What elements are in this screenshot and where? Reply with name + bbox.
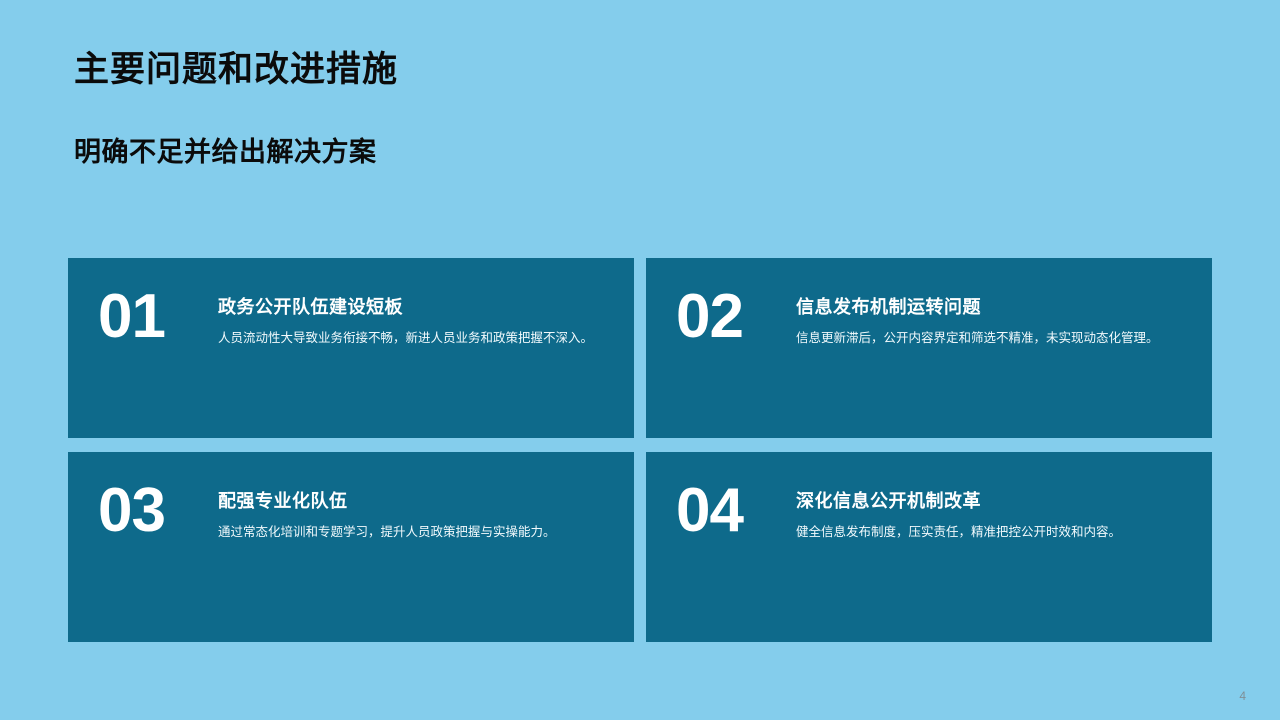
page-subtitle: 明确不足并给出解决方案 (74, 90, 974, 168)
title-block: 主要问题和改进措施 明确不足并给出解决方案 (74, 50, 974, 168)
card-02[interactable]: 02 信息发布机制运转问题 信息更新滞后，公开内容界定和筛选不精准，未实现动态化… (646, 258, 1212, 438)
card-body-04: 深化信息公开机制改革 健全信息发布制度，压实责任，精准把控公开时效和内容。 (796, 484, 1178, 543)
card-body-01: 政务公开队伍建设短板 人员流动性大导致业务衔接不畅，新进人员业务和政策把握不深入… (218, 290, 600, 349)
card-heading-02: 信息发布机制运转问题 (796, 296, 1178, 319)
card-03[interactable]: 03 配强专业化队伍 通过常态化培训和专题学习，提升人员政策把握与实操能力。 (68, 452, 634, 642)
card-number-03: 03 (98, 480, 218, 542)
page-title: 主要问题和改进措施 (74, 50, 974, 90)
card-04[interactable]: 04 深化信息公开机制改革 健全信息发布制度，压实责任，精准把控公开时效和内容。 (646, 452, 1212, 642)
card-text-01: 人员流动性大导致业务衔接不畅，新进人员业务和政策把握不深入。 (218, 328, 600, 349)
card-number-01: 01 (98, 286, 218, 348)
card-text-02: 信息更新滞后，公开内容界定和筛选不精准，未实现动态化管理。 (796, 328, 1178, 349)
presentation-slide: 主要问题和改进措施 明确不足并给出解决方案 01 政务公开队伍建设短板 人员流动… (0, 0, 1280, 720)
card-heading-01: 政务公开队伍建设短板 (218, 296, 600, 319)
card-text-03: 通过常态化培训和专题学习，提升人员政策把握与实操能力。 (218, 522, 600, 543)
card-grid: 01 政务公开队伍建设短板 人员流动性大导致业务衔接不畅，新进人员业务和政策把握… (68, 258, 1212, 642)
card-body-02: 信息发布机制运转问题 信息更新滞后，公开内容界定和筛选不精准，未实现动态化管理。 (796, 290, 1178, 349)
page-number: 4 (1239, 690, 1246, 702)
card-text-04: 健全信息发布制度，压实责任，精准把控公开时效和内容。 (796, 522, 1178, 543)
card-number-02: 02 (676, 286, 796, 348)
card-number-04: 04 (676, 480, 796, 542)
card-heading-04: 深化信息公开机制改革 (796, 490, 1178, 513)
card-01[interactable]: 01 政务公开队伍建设短板 人员流动性大导致业务衔接不畅，新进人员业务和政策把握… (68, 258, 634, 438)
card-body-03: 配强专业化队伍 通过常态化培训和专题学习，提升人员政策把握与实操能力。 (218, 484, 600, 543)
card-heading-03: 配强专业化队伍 (218, 490, 600, 513)
